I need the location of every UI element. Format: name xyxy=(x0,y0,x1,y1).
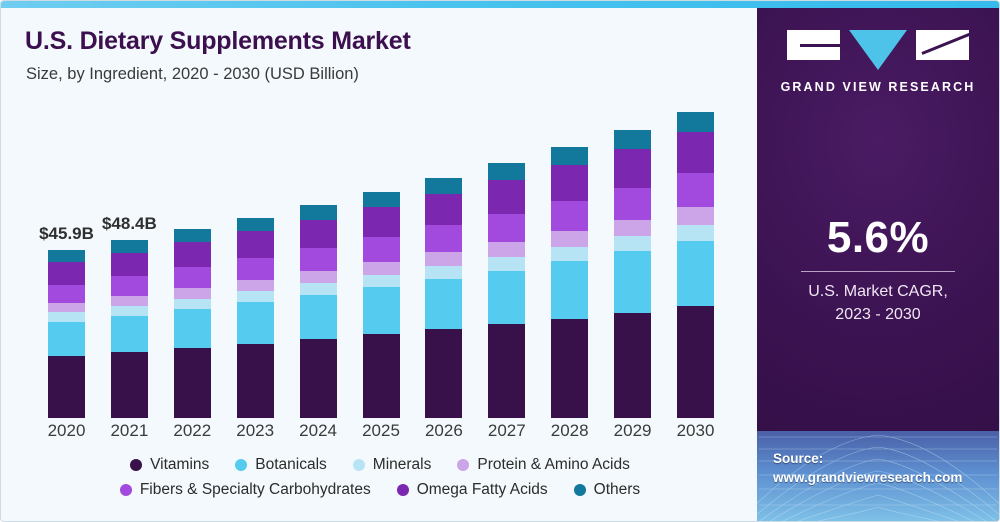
cagr-caption-line1: U.S. Market CAGR, xyxy=(757,280,999,303)
segment-omega-fatty-acids[interactable] xyxy=(174,242,211,267)
bar-2028[interactable] xyxy=(551,147,588,418)
segment-others[interactable] xyxy=(677,112,714,132)
segment-minerals[interactable] xyxy=(300,283,337,295)
bar-2030[interactable] xyxy=(677,112,714,418)
x-label-2024: 2024 xyxy=(288,421,348,441)
legend-label: Vitamins xyxy=(150,456,209,474)
legend-item-omega-fatty-acids[interactable]: Omega Fatty Acids xyxy=(397,481,548,499)
legend-swatch-icon xyxy=(457,459,469,471)
segment-fibers-specialty-carbohydrates[interactable] xyxy=(488,214,525,242)
x-label-2023: 2023 xyxy=(225,421,285,441)
segment-vitamins[interactable] xyxy=(237,344,274,418)
legend-item-vitamins[interactable]: Vitamins xyxy=(130,456,209,474)
x-label-2030: 2030 xyxy=(666,421,726,441)
segment-others[interactable] xyxy=(363,192,400,207)
segment-omega-fatty-acids[interactable] xyxy=(425,194,462,226)
segment-vitamins[interactable] xyxy=(425,329,462,418)
x-label-2026: 2026 xyxy=(414,421,474,441)
segment-fibers-specialty-carbohydrates[interactable] xyxy=(111,276,148,295)
segment-others[interactable] xyxy=(174,229,211,242)
segment-vitamins[interactable] xyxy=(677,306,714,418)
segment-omega-fatty-acids[interactable] xyxy=(111,253,148,276)
segment-minerals[interactable] xyxy=(614,236,651,251)
segment-protein-amino-acids[interactable] xyxy=(300,271,337,283)
bar-2029[interactable] xyxy=(614,130,651,418)
legend-swatch-icon xyxy=(130,459,142,471)
segment-vitamins[interactable] xyxy=(551,319,588,418)
segment-fibers-specialty-carbohydrates[interactable] xyxy=(614,188,651,220)
legend-label: Minerals xyxy=(373,456,432,474)
segment-vitamins[interactable] xyxy=(111,352,148,418)
cagr-caption: U.S. Market CAGR, 2023 - 2030 xyxy=(757,280,999,326)
stacked-bar-plot: $45.9B$48.4B xyxy=(1,8,759,418)
segment-others[interactable] xyxy=(488,163,525,180)
segment-fibers-specialty-carbohydrates[interactable] xyxy=(363,237,400,262)
segment-fibers-specialty-carbohydrates[interactable] xyxy=(551,201,588,231)
segment-minerals[interactable] xyxy=(111,306,148,316)
segment-botanicals[interactable] xyxy=(237,302,274,343)
x-axis-labels: 2020202120222023202420252026202720282029… xyxy=(1,421,759,449)
x-label-2027: 2027 xyxy=(477,421,537,441)
bar-2027[interactable] xyxy=(488,163,525,418)
logo-wordmark: GRAND VIEW RESEARCH xyxy=(781,80,976,94)
legend-label: Botanicals xyxy=(255,456,327,474)
segment-botanicals[interactable] xyxy=(425,279,462,329)
legend-label: Protein & Amino Acids xyxy=(477,456,630,474)
segment-others[interactable] xyxy=(111,240,148,252)
segment-protein-amino-acids[interactable] xyxy=(551,231,588,246)
brand-panel: GRAND VIEW RESEARCH 5.6% U.S. Market CAG… xyxy=(757,8,999,522)
segment-protein-amino-acids[interactable] xyxy=(488,242,525,257)
segment-fibers-specialty-carbohydrates[interactable] xyxy=(174,267,211,288)
segment-protein-amino-acids[interactable] xyxy=(614,220,651,237)
segment-botanicals[interactable] xyxy=(174,309,211,348)
legend-label: Fibers & Specialty Carbohydrates xyxy=(140,481,371,499)
segment-protein-amino-acids[interactable] xyxy=(363,262,400,275)
chart-legend: VitaminsBotanicalsMineralsProtein & Amin… xyxy=(1,456,759,499)
segment-botanicals[interactable] xyxy=(111,316,148,352)
segment-omega-fatty-acids[interactable] xyxy=(614,149,651,188)
source-credit: Source: www.grandviewresearch.com xyxy=(773,449,962,487)
segment-protein-amino-acids[interactable] xyxy=(425,252,462,266)
segment-protein-amino-acids[interactable] xyxy=(677,207,714,225)
segment-others[interactable] xyxy=(237,218,274,231)
x-label-2021: 2021 xyxy=(99,421,159,441)
legend-item-minerals[interactable]: Minerals xyxy=(353,456,432,474)
segment-fibers-specialty-carbohydrates[interactable] xyxy=(48,285,85,303)
segment-botanicals[interactable] xyxy=(48,322,85,356)
x-label-2028: 2028 xyxy=(540,421,600,441)
segment-protein-amino-acids[interactable] xyxy=(174,288,211,299)
logo-r-icon xyxy=(916,30,969,60)
segment-minerals[interactable] xyxy=(488,257,525,271)
segment-fibers-specialty-carbohydrates[interactable] xyxy=(300,248,337,271)
bar-2024[interactable] xyxy=(300,205,337,418)
segment-others[interactable] xyxy=(551,147,588,165)
grand-view-research-logo: GRAND VIEW RESEARCH xyxy=(757,30,999,94)
legend-label: Omega Fatty Acids xyxy=(417,481,548,499)
cagr-caption-line2: 2023 - 2030 xyxy=(757,303,999,326)
segment-omega-fatty-acids[interactable] xyxy=(551,165,588,201)
legend-item-protein-amino-acids[interactable]: Protein & Amino Acids xyxy=(457,456,630,474)
legend-item-others[interactable]: Others xyxy=(574,481,641,499)
legend-swatch-icon xyxy=(574,484,586,496)
bar-2020[interactable] xyxy=(48,250,85,418)
logo-marks xyxy=(787,30,969,70)
value-label-2021: $48.4B xyxy=(84,214,174,234)
legend-item-fibers-specialty-carbohydrates[interactable]: Fibers & Specialty Carbohydrates xyxy=(120,481,371,499)
segment-fibers-specialty-carbohydrates[interactable] xyxy=(425,225,462,252)
legend-label: Others xyxy=(594,481,641,499)
segment-omega-fatty-acids[interactable] xyxy=(488,180,525,214)
logo-g-icon xyxy=(787,30,840,60)
x-label-2025: 2025 xyxy=(351,421,411,441)
segment-botanicals[interactable] xyxy=(488,271,525,325)
segment-vitamins[interactable] xyxy=(488,324,525,418)
segment-vitamins[interactable] xyxy=(48,356,85,418)
bar-2023[interactable] xyxy=(237,218,274,418)
segment-minerals[interactable] xyxy=(237,291,274,302)
x-label-2029: 2029 xyxy=(603,421,663,441)
legend-swatch-icon xyxy=(235,459,247,471)
segment-minerals[interactable] xyxy=(677,225,714,241)
segment-botanicals[interactable] xyxy=(677,241,714,306)
x-label-2022: 2022 xyxy=(162,421,222,441)
segment-vitamins[interactable] xyxy=(300,339,337,418)
segment-minerals[interactable] xyxy=(551,247,588,262)
segment-omega-fatty-acids[interactable] xyxy=(48,262,85,284)
segment-others[interactable] xyxy=(614,130,651,149)
legend-item-botanicals[interactable]: Botanicals xyxy=(235,456,327,474)
segment-minerals[interactable] xyxy=(425,266,462,279)
x-label-2020: 2020 xyxy=(37,421,97,441)
segment-others[interactable] xyxy=(300,205,337,219)
legend-row-top: VitaminsBotanicalsMineralsProtein & Amin… xyxy=(117,456,643,474)
bar-2026[interactable] xyxy=(425,178,462,418)
infographic-root: U.S. Dietary Supplements Market Size, by… xyxy=(0,0,1000,522)
segment-botanicals[interactable] xyxy=(363,287,400,334)
segment-minerals[interactable] xyxy=(363,275,400,287)
legend-swatch-icon xyxy=(397,484,409,496)
segment-omega-fatty-acids[interactable] xyxy=(677,132,714,173)
bar-2021[interactable] xyxy=(111,240,148,418)
bar-2025[interactable] xyxy=(363,192,400,418)
segment-others[interactable] xyxy=(425,178,462,194)
cagr-value: 5.6% xyxy=(757,213,999,263)
segment-fibers-specialty-carbohydrates[interactable] xyxy=(677,173,714,207)
segment-vitamins[interactable] xyxy=(363,334,400,418)
bar-2022[interactable] xyxy=(174,229,211,418)
top-accent-strip xyxy=(1,1,1000,8)
segment-botanicals[interactable] xyxy=(614,251,651,312)
legend-swatch-icon xyxy=(120,484,132,496)
source-label: Source: xyxy=(773,449,962,468)
segment-protein-amino-acids[interactable] xyxy=(111,296,148,306)
segment-protein-amino-acids[interactable] xyxy=(48,303,85,312)
brand-panel-footer: Source: www.grandviewresearch.com xyxy=(757,431,999,522)
segment-vitamins[interactable] xyxy=(614,313,651,418)
segment-botanicals[interactable] xyxy=(551,261,588,318)
segment-omega-fatty-acids[interactable] xyxy=(237,231,274,258)
segment-protein-amino-acids[interactable] xyxy=(237,280,274,291)
segment-fibers-specialty-carbohydrates[interactable] xyxy=(237,258,274,280)
segment-minerals[interactable] xyxy=(48,312,85,322)
chart-panel: U.S. Dietary Supplements Market Size, by… xyxy=(1,8,759,522)
segment-omega-fatty-acids[interactable] xyxy=(300,220,337,248)
segment-minerals[interactable] xyxy=(174,299,211,310)
cagr-divider xyxy=(801,271,955,272)
segment-vitamins[interactable] xyxy=(174,348,211,418)
segment-omega-fatty-acids[interactable] xyxy=(363,207,400,237)
segment-botanicals[interactable] xyxy=(300,295,337,339)
legend-row-bottom: Fibers & Specialty CarbohydratesOmega Fa… xyxy=(107,481,653,499)
legend-swatch-icon xyxy=(353,459,365,471)
logo-v-triangle-icon xyxy=(849,30,907,70)
segment-others[interactable] xyxy=(48,250,85,263)
source-url: www.grandviewresearch.com xyxy=(773,468,962,487)
